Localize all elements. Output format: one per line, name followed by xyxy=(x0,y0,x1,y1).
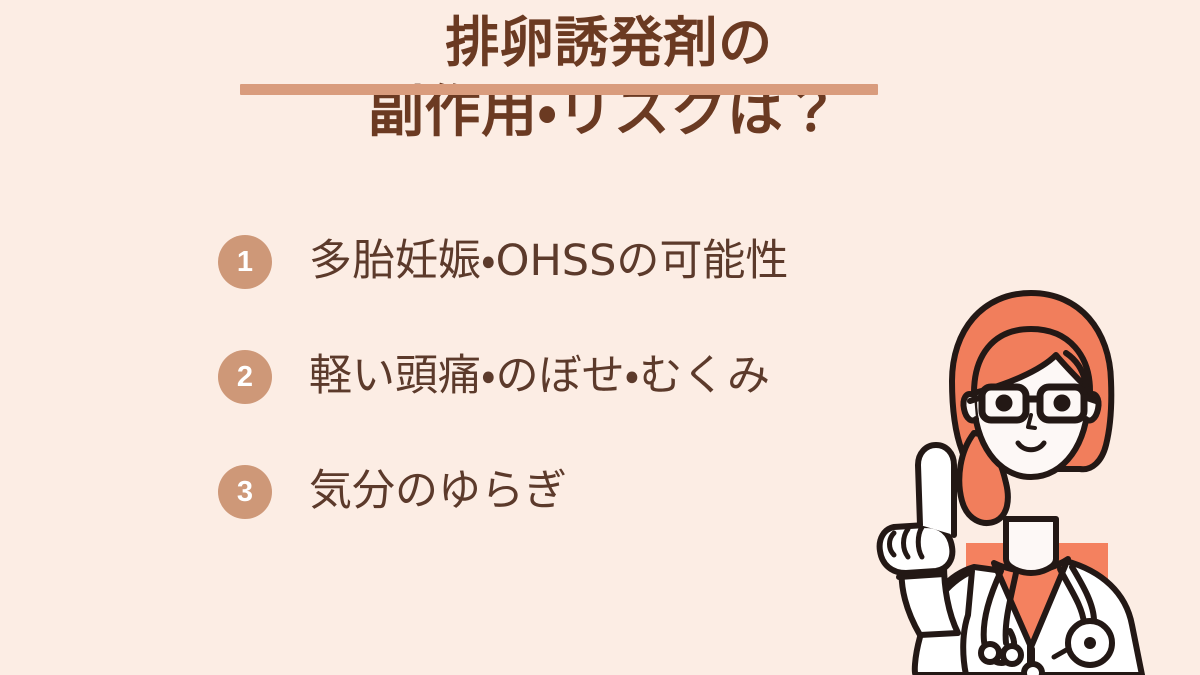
bullet-list: 1 多胎妊娠・OHSSの可能性 2 軽い頭痛・のぼせ・むくみ 3 気分のゆらぎ xyxy=(218,228,938,526)
list-item-badge-3: 3 xyxy=(218,465,272,519)
female-doctor-illustration xyxy=(870,275,1200,675)
title-block: 排卵誘発剤の 副作用・リスクは？ xyxy=(0,14,1200,143)
list-item-badge-2: 2 xyxy=(218,350,272,404)
slide-canvas: 排卵誘発剤の 副作用・リスクは？ 1 多胎妊娠・OHSSの可能性 2 軽い頭痛・… xyxy=(0,0,1200,675)
list-item-label-2: 軽い頭痛・のぼせ・むくみ xyxy=(309,353,770,400)
title-line-1: 排卵誘発剤の xyxy=(0,14,1200,71)
list-item-badge-1: 1 xyxy=(218,235,272,289)
list-item: 1 多胎妊娠・OHSSの可能性 xyxy=(218,228,938,296)
doctor-figure-icon xyxy=(870,275,1200,675)
list-item: 2 軽い頭痛・のぼせ・むくみ xyxy=(218,343,938,411)
title-divider xyxy=(240,84,878,95)
list-item-label-3: 気分のゆらぎ xyxy=(309,468,567,515)
list-item-label-1: 多胎妊娠・OHSSの可能性 xyxy=(309,238,788,285)
list-item: 3 気分のゆらぎ xyxy=(218,458,938,526)
